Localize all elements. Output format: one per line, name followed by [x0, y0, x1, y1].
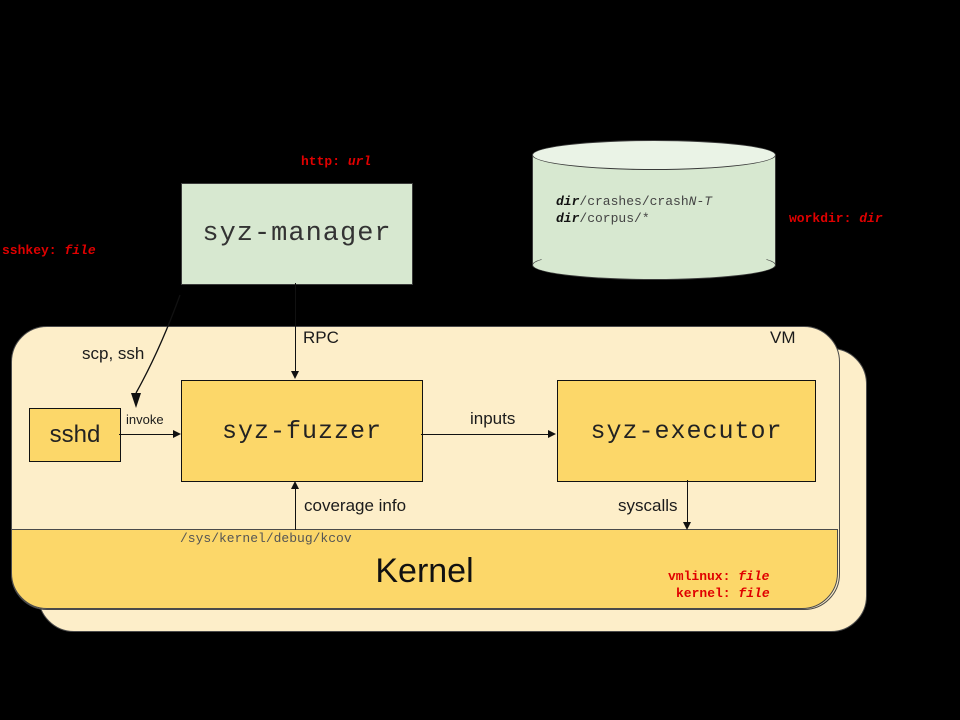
edge-rpc-line	[295, 283, 296, 372]
edge-rpc-arrowhead	[291, 371, 299, 379]
edge-scp-ssh-label: scp, ssh	[82, 344, 144, 364]
edge-inputs-line	[421, 434, 549, 435]
annotation-kernel-flag-key: kernel:	[676, 586, 731, 601]
edge-coverage-arrowhead	[291, 481, 299, 489]
annotation-kernel-flag-value: file	[738, 586, 769, 601]
edge-syscalls-label: syscalls	[618, 496, 678, 516]
workdir-store-contents: dir/crashes/crashN-T dir/corpus/*	[556, 193, 712, 227]
cylinder-top-ellipse	[532, 140, 776, 170]
kcov-path-label: /sys/kernel/debug/kcov	[180, 531, 352, 546]
annotation-workdir-key: workdir:	[789, 211, 851, 226]
annotation-sshkey-value: file	[64, 243, 95, 258]
edge-syscalls-line	[687, 480, 688, 524]
annotation-workdir: workdir: dir	[789, 211, 883, 226]
node-syz-fuzzer-label: syz-fuzzer	[222, 417, 382, 446]
annotation-vmlinux-value: file	[738, 569, 769, 584]
annotation-workdir-value: dir	[859, 211, 882, 226]
edge-inputs-label: inputs	[470, 409, 515, 429]
annotation-vmlinux: vmlinux: file	[668, 569, 769, 584]
edge-coverage-line	[295, 488, 296, 530]
edge-rpc-label: RPC	[303, 328, 339, 348]
node-sshd-label: sshd	[50, 421, 101, 449]
annotation-http: http: url	[301, 154, 371, 169]
vm-label: VM	[770, 328, 796, 348]
node-syz-executor-label: syz-executor	[590, 417, 782, 446]
cylinder-bottom-ellipse	[532, 250, 776, 280]
node-syz-fuzzer[interactable]: syz-fuzzer	[181, 380, 423, 482]
workdir-line-crashes: dir/crashes/crashN-T	[556, 193, 712, 210]
node-sshd[interactable]: sshd	[29, 408, 121, 462]
node-syz-manager-label: syz-manager	[202, 219, 391, 249]
edge-inputs-arrowhead	[548, 430, 556, 438]
workdir-line-corpus: dir/corpus/*	[556, 210, 712, 227]
annotation-http-value: url	[348, 154, 371, 169]
annotation-http-key: http:	[301, 154, 340, 169]
node-syz-manager[interactable]: syz-manager	[181, 183, 413, 285]
annotation-sshkey: sshkey: file	[2, 243, 96, 258]
node-workdir-store[interactable]: dir/crashes/crashN-T dir/corpus/*	[532, 140, 776, 278]
edge-coverage-label: coverage info	[304, 496, 406, 516]
edge-invoke-arrowhead	[173, 430, 181, 438]
annotation-vmlinux-key: vmlinux:	[668, 569, 730, 584]
node-syz-executor[interactable]: syz-executor	[557, 380, 816, 482]
annotation-sshkey-key: sshkey:	[2, 243, 57, 258]
annotation-kernel-flag: kernel: file	[676, 586, 770, 601]
diagram-canvas: http: url sshkey: file workdir: dir syz-…	[0, 0, 960, 720]
edge-invoke-label: invoke	[126, 412, 164, 427]
edge-syscalls-arrowhead	[683, 522, 691, 530]
edge-invoke-line	[119, 434, 174, 435]
